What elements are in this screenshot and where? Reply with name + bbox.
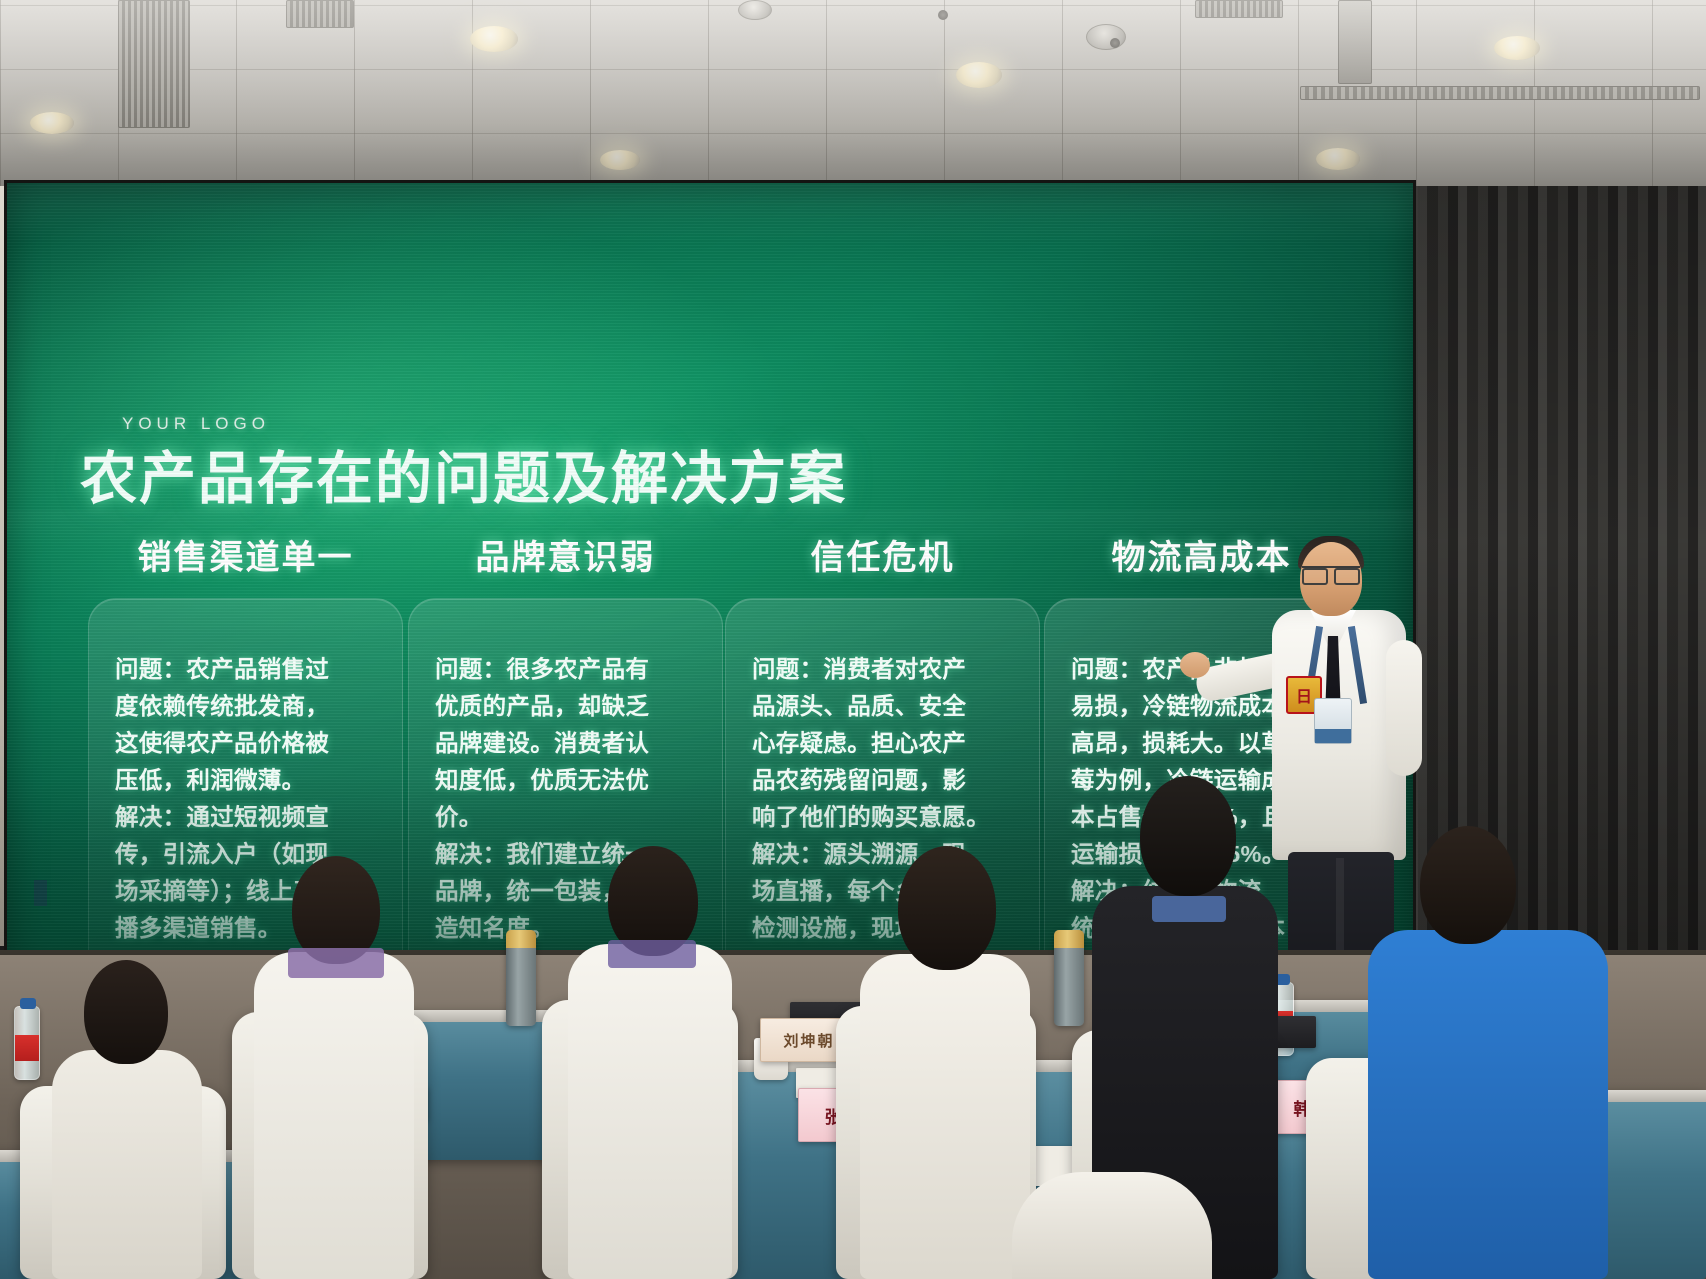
person-head xyxy=(84,960,168,1064)
audience-member xyxy=(46,960,206,1279)
bottle-label xyxy=(15,1035,39,1061)
thermos-tumbler xyxy=(506,930,536,1026)
person-body xyxy=(1012,1172,1212,1279)
person-body xyxy=(254,952,414,1279)
badge-strip xyxy=(1315,729,1351,743)
person-body xyxy=(860,954,1030,1279)
person-lanyard xyxy=(608,940,696,968)
audience-member xyxy=(566,846,734,1279)
person-body xyxy=(1368,930,1608,1279)
ceiling-shading xyxy=(0,0,1706,198)
glasses-icon xyxy=(1302,566,1360,579)
person-head xyxy=(1140,776,1236,896)
presenter-arm-right xyxy=(1386,640,1422,776)
bottle-cap xyxy=(20,998,36,1009)
audience-member xyxy=(1012,1172,1212,1279)
audience-member xyxy=(858,846,1034,1279)
thermos-tumbler xyxy=(1054,930,1084,1026)
person-head xyxy=(898,846,996,970)
ceiling xyxy=(0,0,1706,198)
person-lanyard xyxy=(288,948,384,978)
nameplate-text: 刘坤朝 xyxy=(783,1030,834,1051)
audience-member xyxy=(252,856,416,1279)
water-bottle xyxy=(14,1006,40,1080)
audience-member xyxy=(1368,826,1608,1279)
person-head xyxy=(1420,826,1516,944)
tumbler-lid xyxy=(506,930,536,948)
person-body xyxy=(568,944,732,1279)
presenter-hand xyxy=(1180,652,1210,678)
person-lanyard xyxy=(1152,896,1226,922)
presenter-id-badge xyxy=(1314,698,1352,744)
screenshot-root: YOUR LOGO 农产品存在的问题及解决方案 销售渠道单一 问题：农产品销售过… xyxy=(0,0,1706,1279)
person-body xyxy=(52,1050,202,1279)
tumbler-lid xyxy=(1054,930,1084,948)
